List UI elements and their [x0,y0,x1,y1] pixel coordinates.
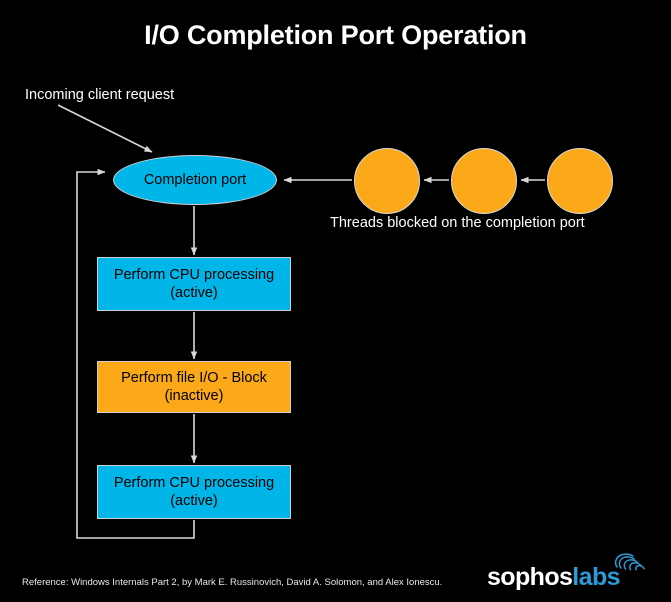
diagram-canvas: I/O Completion Port Operation Incoming c… [0,0,671,602]
logo-sophos-text: sophos [487,563,572,591]
incoming-request-label: Incoming client request [25,87,174,103]
reference-text: Reference: Windows Internals Part 2, by … [22,577,442,588]
node-perform-cpu-processing-1[interactable]: Perform CPU processing (active) [97,257,291,311]
node-completion-port[interactable]: Completion port [113,155,277,205]
thread-circle-2[interactable] [451,148,517,214]
threads-blocked-label: Threads blocked on the completion port [330,215,585,231]
incoming-request-arrow [58,105,152,152]
node-perform-cpu-processing-2[interactable]: Perform CPU processing (active) [97,465,291,519]
page-title: I/O Completion Port Operation [0,20,671,51]
sophoslabs-logo: sophoslabs [487,552,651,590]
logo-labs-text: labs [572,563,620,591]
thread-circle-1[interactable] [354,148,420,214]
thread-circle-3[interactable] [547,148,613,214]
logo-wordmark: sophoslabs [487,565,620,590]
node-perform-file-io-block[interactable]: Perform file I/O - Block (inactive) [97,361,291,413]
